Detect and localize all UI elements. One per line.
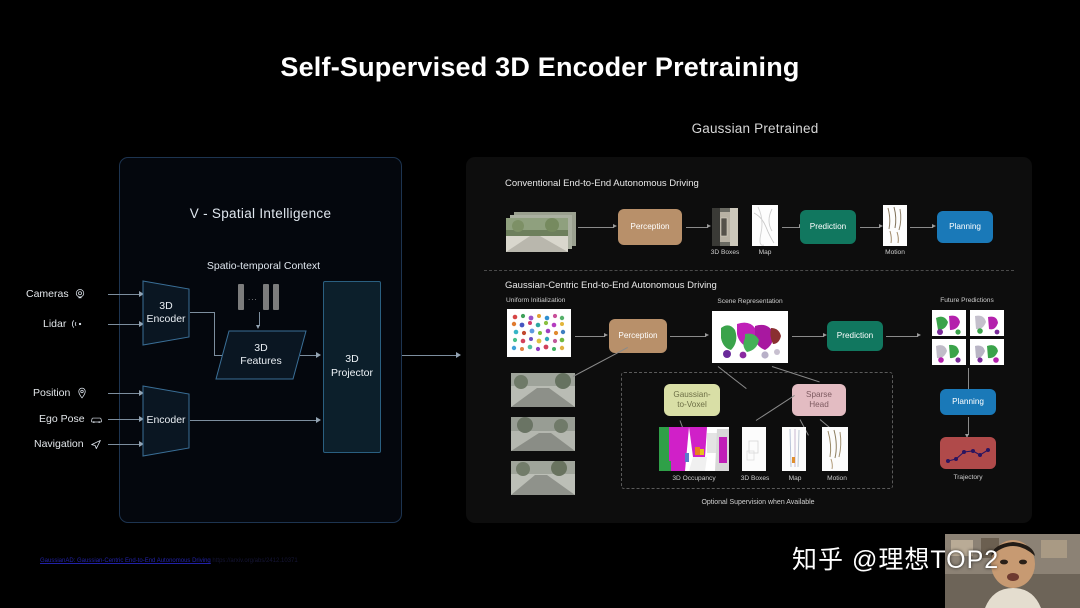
slide-root: Self-Supervised 3D Encoder Pretraining G… xyxy=(0,0,1080,608)
caption-map-conventional: Map xyxy=(745,249,785,256)
spatio-temporal-tokens: ... xyxy=(238,284,280,310)
thumbnail-camera-frame-3 xyxy=(511,461,575,495)
input-label-navigation: Navigation xyxy=(34,438,84,450)
arrow-encoder-projector-head xyxy=(316,417,321,423)
label-optional-supervision: Optional Supervision when Available xyxy=(665,499,851,506)
conn-prediction-future xyxy=(886,336,918,337)
block-perception-conventional: Perception xyxy=(618,209,682,245)
block-prediction-conventional: Prediction xyxy=(800,210,856,244)
thumbnail-future-pred-1 xyxy=(932,310,966,336)
caption-motion-gaussian: Motion xyxy=(817,475,857,482)
caption-motion-conventional: Motion xyxy=(874,249,916,256)
input-row-position: Position xyxy=(33,386,88,400)
thumbnail-scene-representation xyxy=(712,311,788,363)
token-bar-3 xyxy=(273,284,279,310)
caption-3d-boxes-gaussian: 3D Boxes xyxy=(735,475,775,482)
page-title: Self-Supervised 3D Encoder Pretraining xyxy=(0,52,1080,83)
block-gaussian-to-voxel: Gaussian- to-Voxel xyxy=(664,384,720,416)
block-3d-features-text: 3D Features xyxy=(215,330,307,380)
thumbnail-3d-boxes-gaussian xyxy=(742,427,766,471)
conn-perception-scene xyxy=(670,336,706,337)
label-scene-representation: Scene Representation xyxy=(700,298,800,305)
input-row-navigation: Navigation xyxy=(34,437,102,451)
block-3d-encoder-line2: Encoder xyxy=(146,313,185,326)
block-3d-features-line2: Features xyxy=(240,355,281,368)
thumbnail-motion-gaussian xyxy=(822,427,848,471)
block-sparse-head-line2: Head xyxy=(809,400,829,410)
block-3d-encoder-line1: 3D xyxy=(159,300,172,313)
thumbnail-future-pred-2 xyxy=(970,310,1004,336)
arrow-left-to-right-panel xyxy=(402,355,457,356)
tokens-down-line xyxy=(259,312,260,326)
caption-3d-boxes-conventional: 3D Boxes xyxy=(700,249,750,256)
location-pin-icon xyxy=(75,387,88,400)
watermark-zhihu: 知乎 @理想TOP2 xyxy=(792,540,999,576)
block-gaussian-to-voxel-line2: to-Voxel xyxy=(677,400,707,410)
conn-perception-boxes-head xyxy=(707,224,711,228)
citation[interactable]: GaussianAD: Gaussian-Centric End-to-End … xyxy=(40,558,298,564)
arrow-lidar xyxy=(108,324,140,325)
section-title-conventional: Conventional End-to-End Autonomous Drivi… xyxy=(505,178,699,189)
arrow-position xyxy=(108,393,140,394)
block-encoder-text: Encoder xyxy=(142,385,190,457)
block-3d-projector-line2: Projector xyxy=(331,367,373,381)
thumbnail-future-pred-4 xyxy=(970,339,1004,365)
input-label-ego-pose: Ego Pose xyxy=(39,413,85,425)
thumbnail-road-stack-front xyxy=(506,218,568,252)
block-3d-projector: 3D Projector xyxy=(323,281,381,453)
block-gaussian-to-voxel-line1: Gaussian- xyxy=(673,390,710,400)
block-planning-gaussian: Planning xyxy=(940,389,996,415)
block-encoder-label: Encoder xyxy=(146,414,185,427)
caption-map-gaussian: Map xyxy=(777,475,813,482)
thumbnail-camera-frame-1 xyxy=(511,373,575,407)
arrow-encoder-projector xyxy=(190,420,317,421)
arrow-navigation xyxy=(108,444,140,445)
thumbnail-camera-frame-2 xyxy=(511,417,575,451)
input-label-position: Position xyxy=(33,387,70,399)
label-future-predictions: Future Predictions xyxy=(925,297,1009,304)
conn-scene-prediction xyxy=(792,336,824,337)
token-dots: ... xyxy=(248,293,258,302)
route-enc-h1 xyxy=(190,312,215,313)
conn-init-perception xyxy=(575,336,605,337)
caption-trajectory: Trajectory xyxy=(938,474,998,481)
thumbnail-map-conventional xyxy=(752,205,778,246)
lidar-wave-icon xyxy=(71,318,84,331)
input-row-cameras: Cameras xyxy=(26,287,87,301)
thumbnail-map-gaussian xyxy=(782,427,806,471)
left-panel-title: V - Spatial Intelligence xyxy=(120,206,401,221)
block-3d-projector-line1: 3D xyxy=(345,353,358,367)
conn-conv-imgs-perception xyxy=(578,227,614,228)
input-label-cameras: Cameras xyxy=(26,288,69,300)
block-perception-gaussian: Perception xyxy=(609,319,667,353)
block-3d-encoder-text: 3D Encoder xyxy=(142,280,190,346)
conn-init-perception-head xyxy=(604,333,608,337)
arrow-ego-pose xyxy=(108,419,140,420)
subtitle-gaussian-pretrained: Gaussian Pretrained xyxy=(660,121,850,136)
block-encoder: Encoder xyxy=(142,385,190,457)
citation-url: https://arxiv.org/abs/2412.10371 xyxy=(212,558,297,564)
citation-link[interactable]: GaussianAD: Gaussian-Centric End-to-End … xyxy=(40,558,211,564)
thumbnail-motion-conventional xyxy=(883,205,907,246)
car-icon xyxy=(90,413,103,426)
arrow-features-projector-head xyxy=(316,352,321,358)
block-trajectory xyxy=(940,437,996,469)
conn-conv-imgs-perception-head xyxy=(613,224,617,228)
thumbnail-3d-occupancy xyxy=(659,427,729,471)
spatio-temporal-context-label: Spatio-temporal Context xyxy=(196,260,331,272)
label-uniform-initialization: Uniform Initialization xyxy=(506,297,586,304)
conn-perception-scene-head xyxy=(705,333,709,337)
conn-motion-planning xyxy=(910,227,933,228)
conn-future-planning xyxy=(968,368,969,390)
arrow-features-projector xyxy=(300,355,317,356)
block-3d-features-line1: 3D xyxy=(254,342,267,355)
conn-prediction-motion xyxy=(860,227,880,228)
block-prediction-gaussian: Prediction xyxy=(827,321,883,351)
caption-3d-occupancy: 3D Occupancy xyxy=(659,475,729,482)
block-sparse-head-line1: Sparse xyxy=(806,390,832,400)
camera-icon xyxy=(74,288,87,301)
input-row-ego-pose: Ego Pose xyxy=(39,412,103,426)
thumbnail-3d-boxes-conventional xyxy=(712,208,738,246)
tokens-down-head xyxy=(256,325,260,329)
arrow-left-to-right-panel-head xyxy=(456,352,461,358)
section-title-gaussian: Gaussian-Centric End-to-End Autonomous D… xyxy=(505,280,717,291)
conn-prediction-future-head xyxy=(917,333,921,337)
block-sparse-head: Sparse Head xyxy=(792,384,846,416)
block-3d-encoder: 3D Encoder xyxy=(142,280,190,346)
pipeline-divider xyxy=(484,270,1014,271)
block-3d-features: 3D Features xyxy=(215,330,307,380)
conn-motion-planning-head xyxy=(932,224,936,228)
input-row-lidar: Lidar xyxy=(43,317,84,331)
token-bar-2 xyxy=(263,284,269,310)
input-label-lidar: Lidar xyxy=(43,318,66,330)
conn-map-prediction xyxy=(782,227,800,228)
conn-planning-trajectory xyxy=(968,417,969,435)
conn-perception-boxes xyxy=(686,227,708,228)
navigation-arrow-icon xyxy=(89,438,102,451)
block-planning-conventional: Planning xyxy=(937,211,993,243)
arrow-cameras xyxy=(108,294,140,295)
token-bar-1 xyxy=(238,284,244,310)
thumbnail-uniform-initialization xyxy=(507,309,571,357)
thumbnail-future-pred-3 xyxy=(932,339,966,365)
